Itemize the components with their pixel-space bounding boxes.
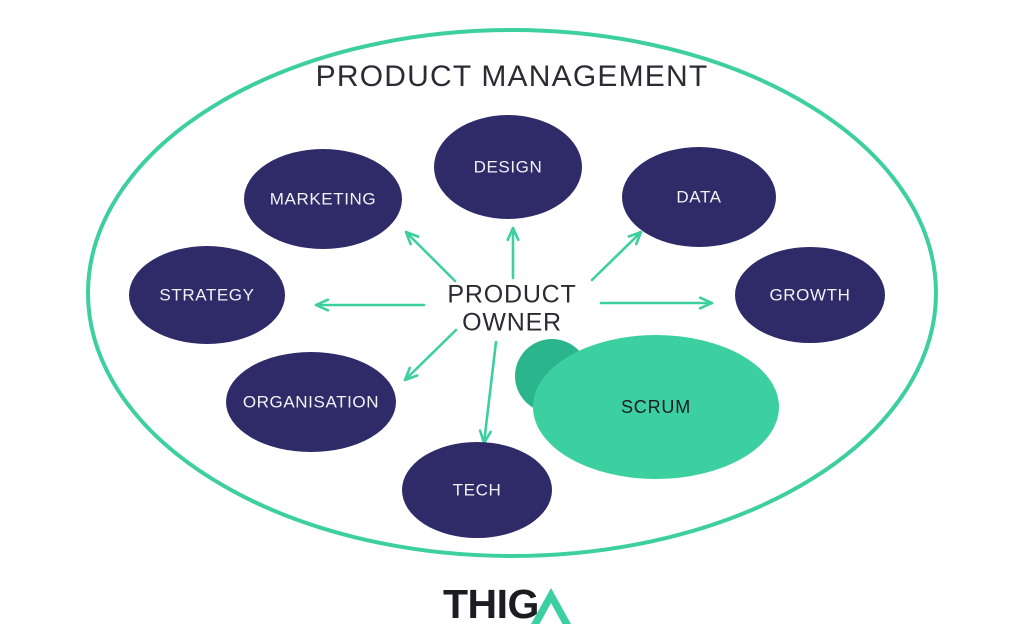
product-owner-line-2: OWNER: [462, 309, 562, 337]
thiga-logo-word: THIG: [443, 581, 539, 627]
discipline-node-growth[interactable]: GROWTH: [735, 247, 885, 343]
discipline-node-growth-label: GROWTH: [769, 285, 850, 304]
discipline-node-organisation-label: ORGANISATION: [243, 392, 379, 411]
arrow-to-data: [592, 232, 641, 280]
product-owner-label: PRODUCT OWNER: [447, 281, 576, 337]
discipline-node-strategy-label: STRATEGY: [159, 285, 254, 304]
arrow-to-organisation: [405, 330, 456, 380]
diagram-canvas: PRODUCT MANAGEMENT SCRUM DESIGNMARKETING…: [0, 0, 1024, 640]
discipline-node-marketing-label: MARKETING: [270, 189, 376, 208]
arrow-to-marketing: [406, 232, 455, 281]
discipline-node-tech[interactable]: TECH: [402, 442, 552, 538]
page-title: PRODUCT MANAGEMENT: [316, 60, 709, 93]
discipline-node-data-label: DATA: [676, 187, 721, 206]
product-management-diagram: PRODUCT MANAGEMENT SCRUM DESIGNMARKETING…: [0, 0, 1024, 640]
product-owner-line-1: PRODUCT: [447, 281, 576, 309]
scrum-node[interactable]: SCRUM: [515, 335, 779, 479]
discipline-node-organisation[interactable]: ORGANISATION: [226, 352, 396, 452]
scrum-label: SCRUM: [621, 397, 691, 417]
discipline-node-strategy[interactable]: STRATEGY: [129, 246, 285, 344]
discipline-node-design[interactable]: DESIGN: [434, 115, 582, 219]
discipline-node-design-label: DESIGN: [474, 157, 543, 176]
discipline-node-tech-label: TECH: [453, 480, 502, 499]
thiga-logo: THIG: [443, 581, 571, 627]
discipline-node-marketing[interactable]: MARKETING: [244, 149, 402, 249]
discipline-node-data[interactable]: DATA: [622, 147, 776, 247]
arrow-to-tech: [484, 342, 496, 443]
